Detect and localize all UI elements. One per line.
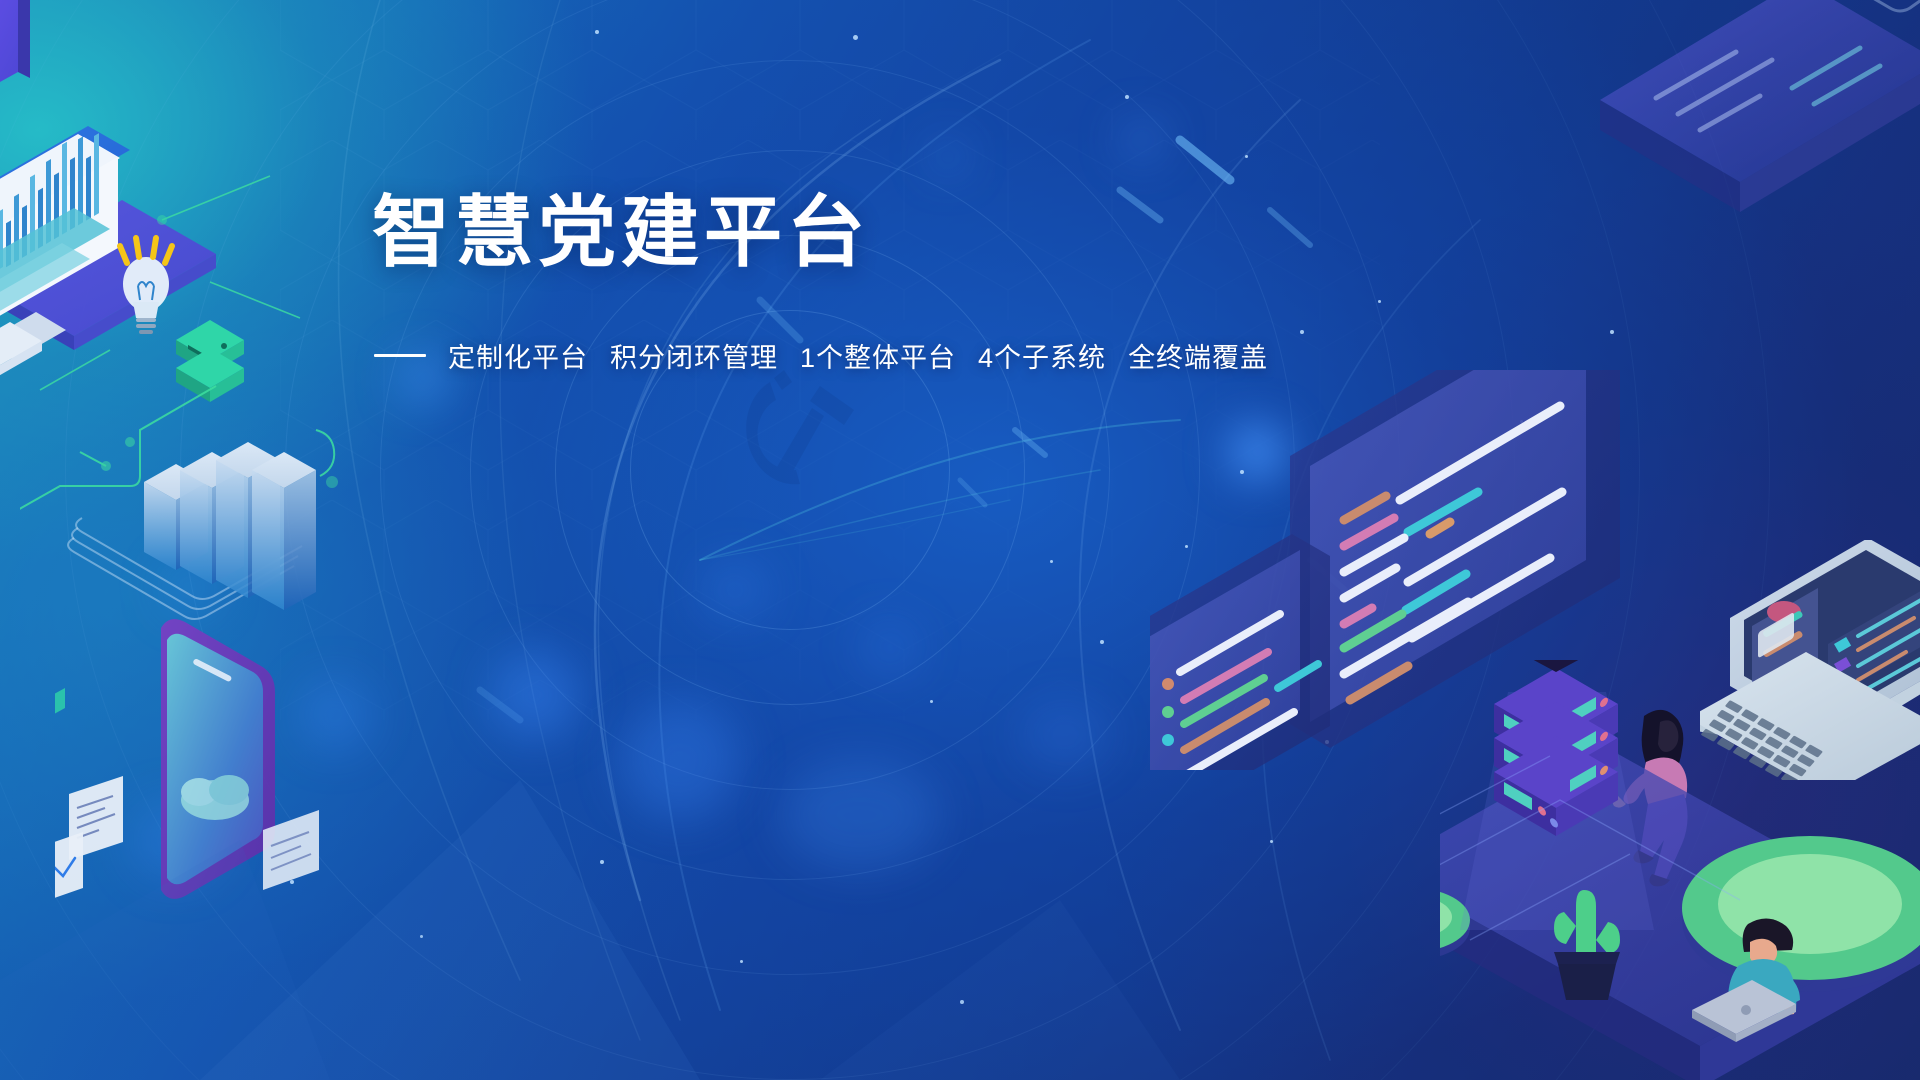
hero-title-block: 智慧党建平台 [372, 192, 870, 274]
subtitle-segment-4: 4个子系统 [978, 343, 1106, 373]
subtitle-segment-3: 1个整体平台 [800, 343, 956, 373]
hero-banner: 智慧党建平台 定制化平台积分闭环管理1个整体平台4个子系统全终端覆盖 [0, 0, 1920, 1080]
subtitle-dash-icon [374, 354, 426, 357]
subtitle-segment-2: 积分闭环管理 [610, 343, 778, 373]
isometric-server-scene-illustration [1440, 660, 1920, 1080]
isometric-smartphone-cloud-illustration [55, 580, 375, 910]
corner-card-decoration [0, 0, 110, 130]
subtitle-segment-1: 定制化平台 [448, 343, 588, 373]
page-title: 智慧党建平台 [372, 192, 870, 274]
subtitle-segment-5: 全终端覆盖 [1128, 343, 1268, 373]
hero-subtitle-row: 定制化平台积分闭环管理1个整体平台4个子系统全终端覆盖 [374, 336, 1268, 375]
isometric-laptop-panel-illustration [1560, 0, 1920, 280]
page-subtitle: 定制化平台积分闭环管理1个整体平台4个子系统全终端覆盖 [448, 336, 1268, 375]
